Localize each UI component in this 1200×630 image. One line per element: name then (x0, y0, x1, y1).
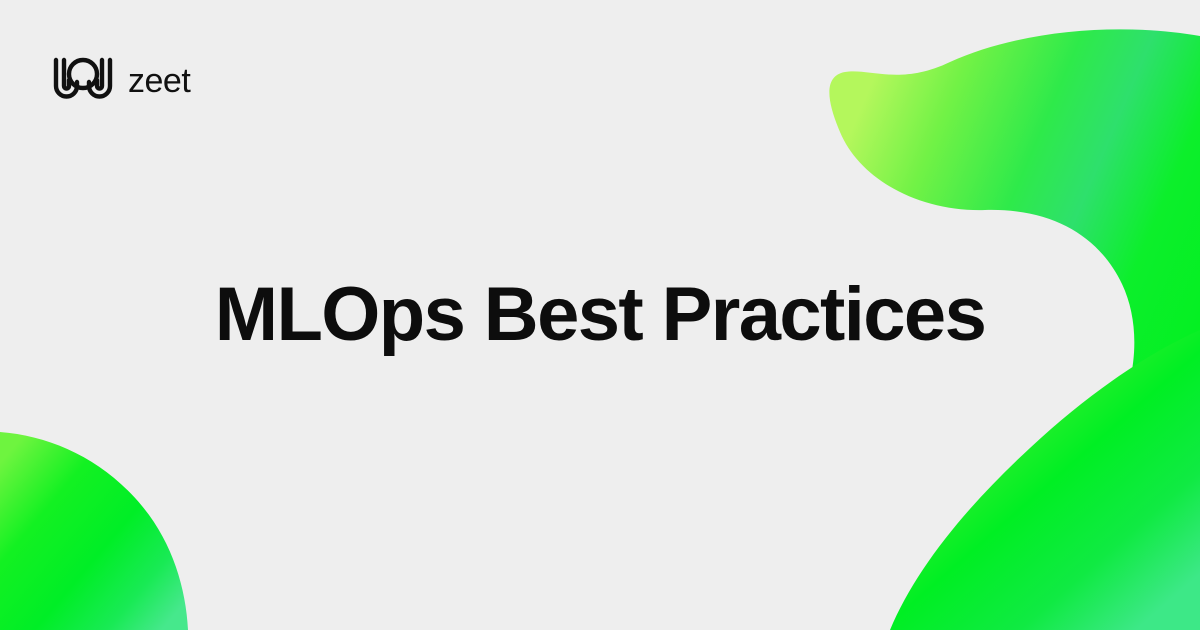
hero-title-block: MLOps Best Practices (0, 0, 1200, 630)
og-card: zeet MLOps Best Practices (0, 0, 1200, 630)
page-title: MLOps Best Practices (135, 275, 1066, 355)
